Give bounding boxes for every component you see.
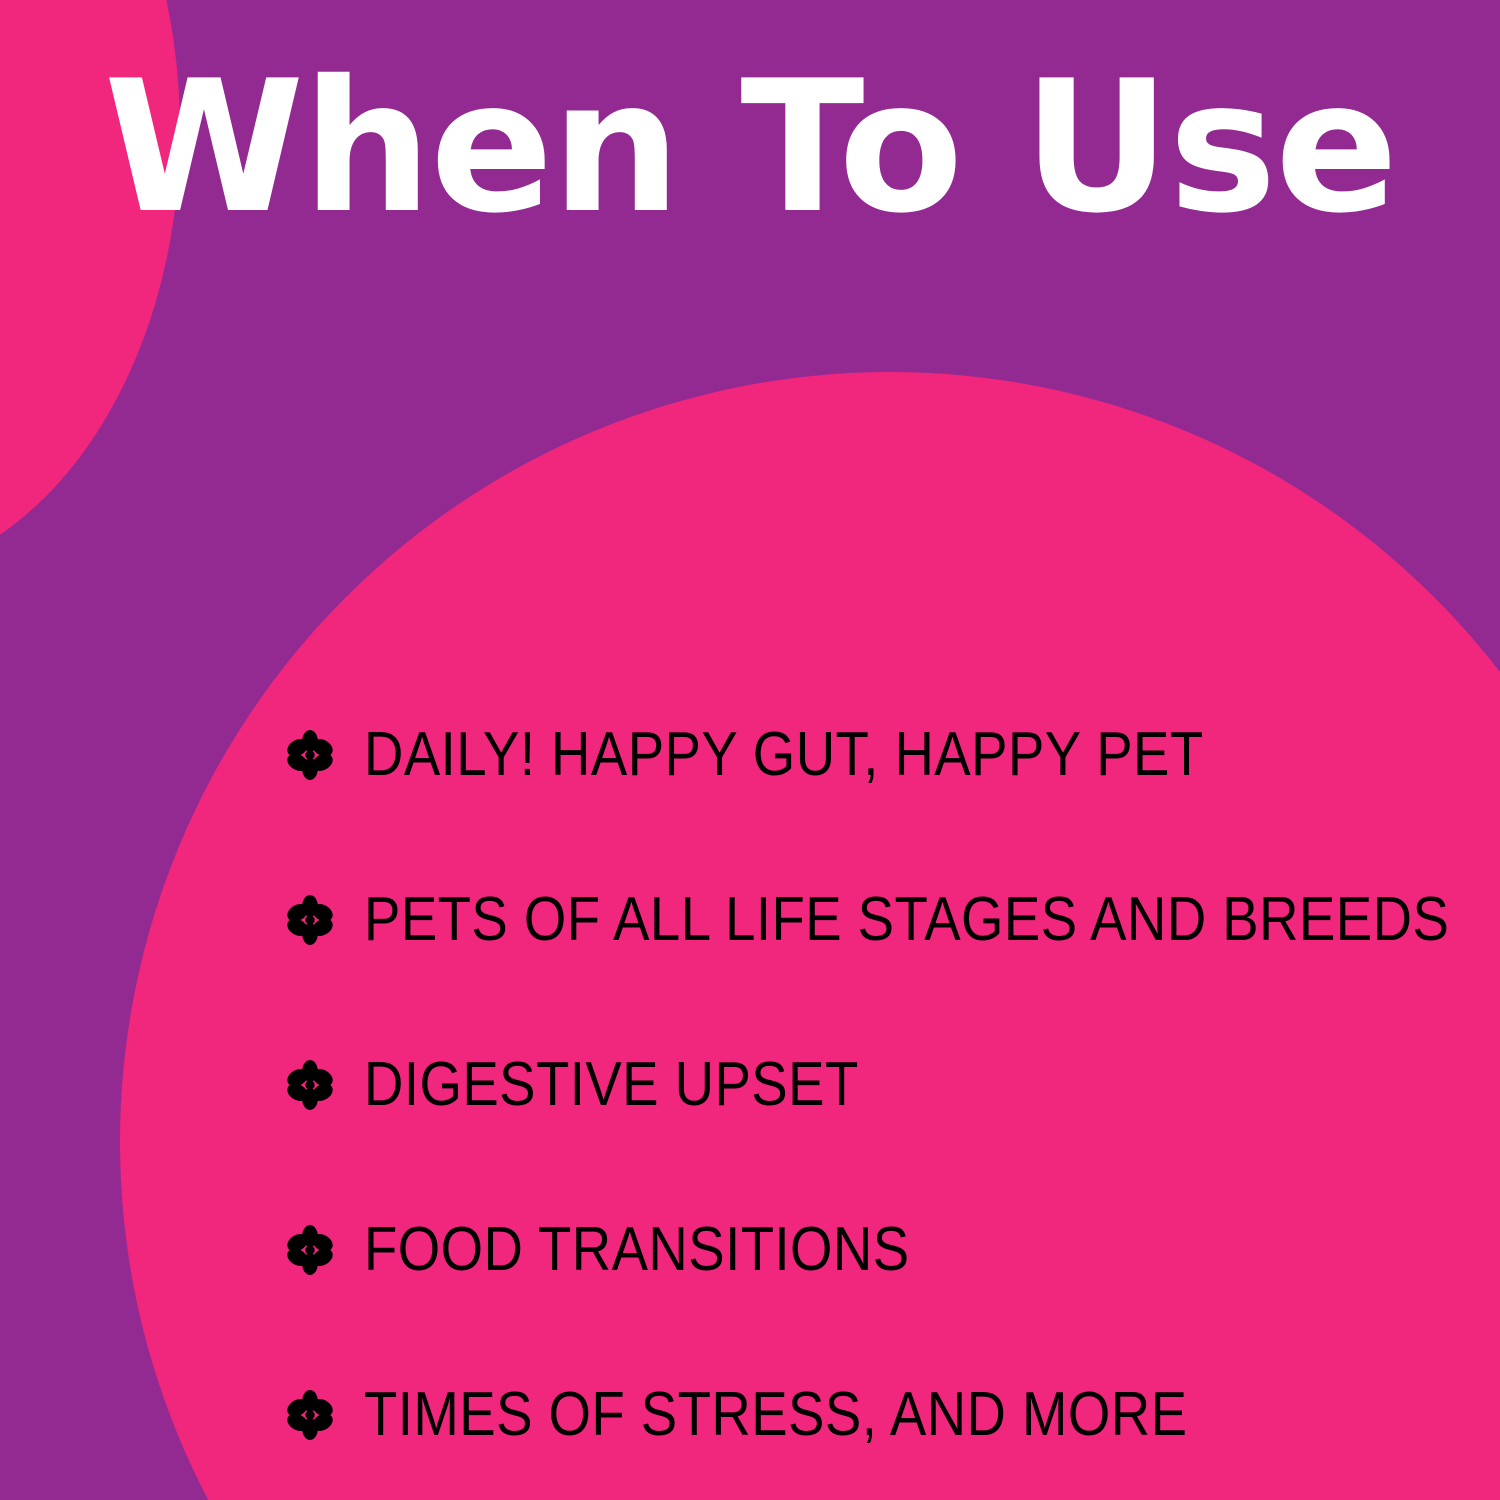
promo-graphic: When To Use DAILY! HAPPY GUT, HAPPY PET — [0, 0, 1500, 1500]
list-item: FOOD TRANSITIONS — [284, 1167, 1464, 1332]
list-item-label: TIMES OF STRESS, AND MORE — [364, 1384, 1187, 1446]
flower-bullet-icon — [284, 1224, 336, 1276]
flower-bullet-icon — [284, 894, 336, 946]
flower-bullet-icon — [284, 729, 336, 781]
list-item-label: PETS OF ALL LIFE STAGES AND BREEDS — [364, 889, 1449, 951]
page-title: When To Use — [0, 56, 1500, 238]
flower-bullet-icon — [284, 1389, 336, 1441]
list-item: DIGESTIVE UPSET — [284, 1002, 1464, 1167]
usage-bullet-list: DAILY! HAPPY GUT, HAPPY PET PETS OF AL — [284, 672, 1464, 1497]
list-item-label: DIGESTIVE UPSET — [364, 1054, 859, 1116]
list-item-label: DAILY! HAPPY GUT, HAPPY PET — [364, 724, 1204, 786]
list-item: DAILY! HAPPY GUT, HAPPY PET — [284, 672, 1464, 837]
list-item-label: FOOD TRANSITIONS — [364, 1219, 910, 1281]
list-item: PETS OF ALL LIFE STAGES AND BREEDS — [284, 837, 1464, 1002]
list-item: TIMES OF STRESS, AND MORE — [284, 1332, 1464, 1497]
flower-bullet-icon — [284, 1059, 336, 1111]
